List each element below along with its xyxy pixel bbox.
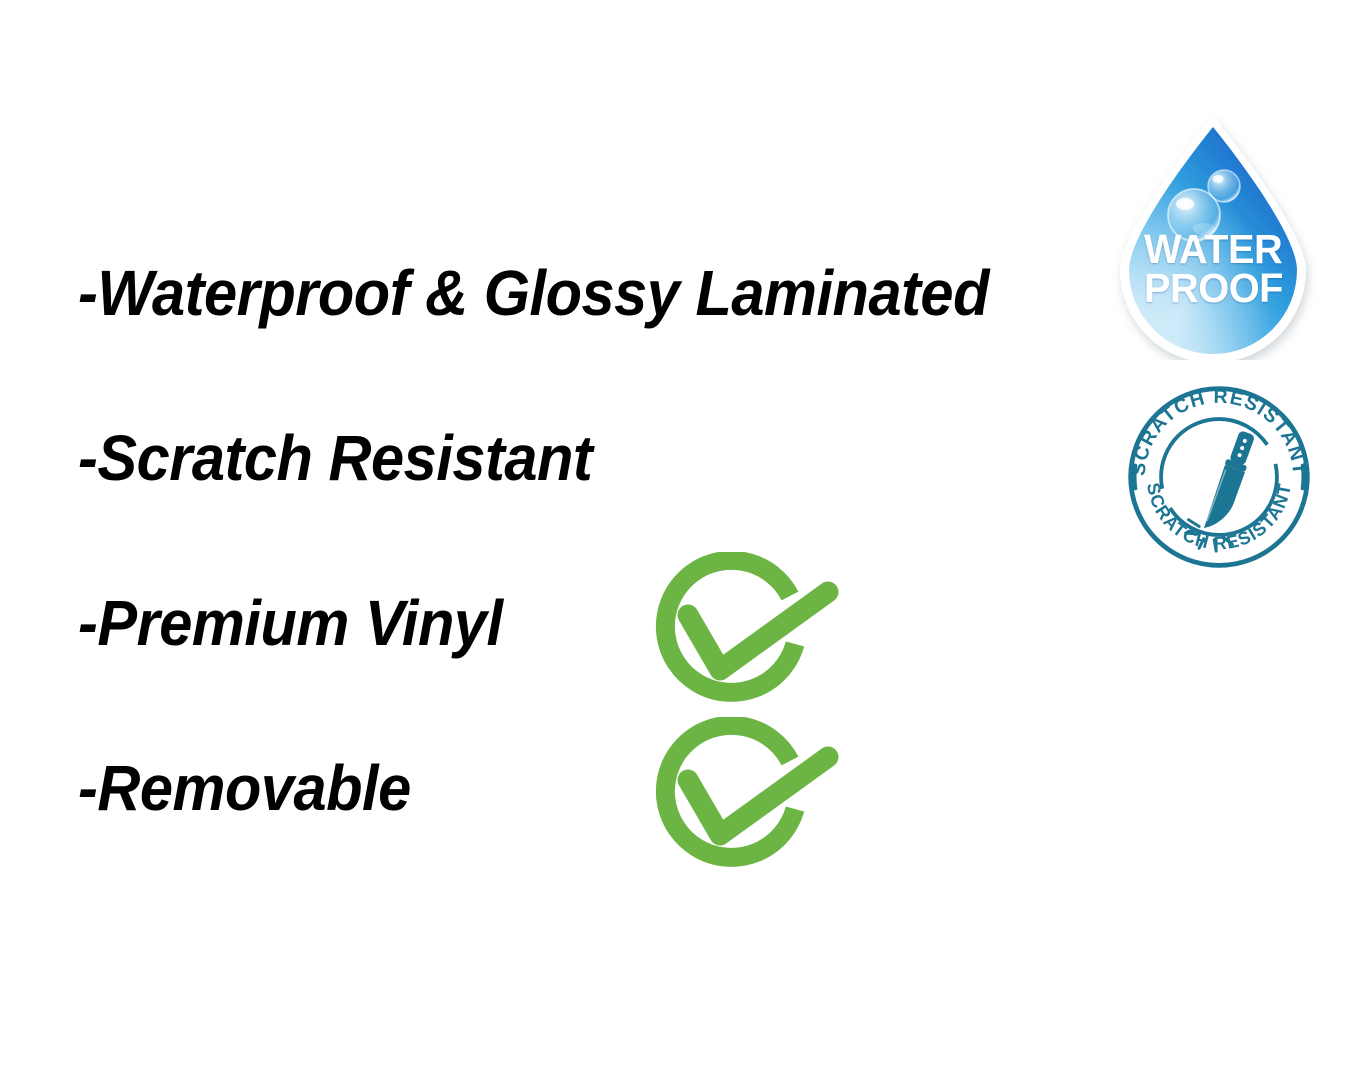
checkmark-premium-vinyl (640, 552, 840, 717)
feature-label-waterproof: -Waterproof & Glossy Laminated (78, 258, 989, 328)
check-circle-icon (640, 717, 840, 882)
water-drop-icon (1108, 110, 1318, 360)
knife-icon (1202, 429, 1258, 535)
checkmark-removable (640, 717, 840, 882)
scratch-resistant-seal-icon: SCRATCH RESISTANT SCRATCH RESISTANT (1122, 382, 1316, 572)
feature-row-premium-vinyl: -Premium Vinyl (78, 588, 1108, 753)
check-circle-icon (640, 552, 840, 717)
check-tick (688, 592, 828, 670)
seal-arc-text-top: SCRATCH RESISTANT (1128, 386, 1311, 477)
waterproof-badge: WATER PROOF (1108, 110, 1318, 360)
feature-row-waterproof: -Waterproof & Glossy Laminated (78, 258, 1108, 423)
feature-label-premium-vinyl: -Premium Vinyl (78, 588, 503, 658)
feature-row-removable: -Removable (78, 753, 1108, 918)
water-bubble-large-icon (1168, 189, 1220, 241)
check-tick (688, 757, 828, 835)
feature-label-scratch-resistant: -Scratch Resistant (78, 423, 592, 493)
feature-row-scratch-resistant: -Scratch Resistant (78, 423, 1108, 588)
scratch-resistant-badge: SCRATCH RESISTANT SCRATCH RESISTANT (1122, 382, 1316, 572)
feature-list: -Waterproof & Glossy Laminated -Scratch … (78, 258, 1108, 918)
feature-label-removable: -Removable (78, 753, 411, 823)
seal-arc-text-top-path: SCRATCH RESISTANT (1128, 386, 1311, 477)
water-drop-shape (1120, 116, 1306, 360)
feature-graphic-canvas: -Waterproof & Glossy Laminated -Scratch … (0, 0, 1359, 1080)
